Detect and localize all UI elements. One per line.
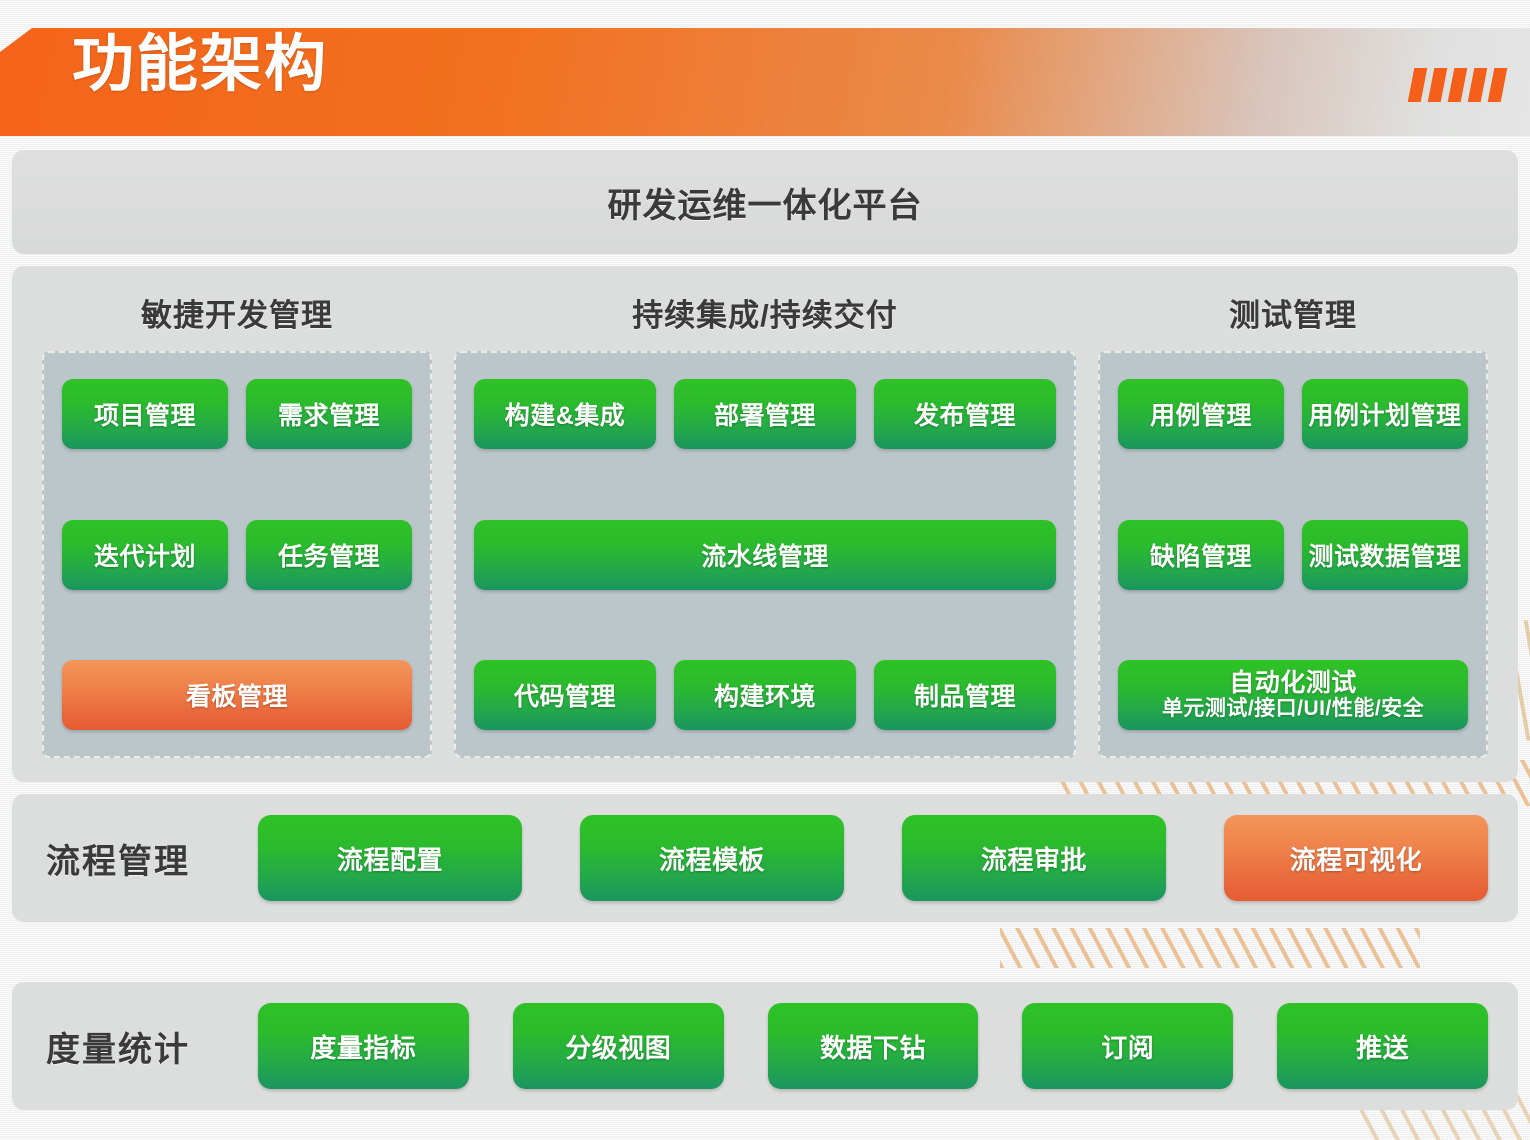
tile-row: 流水线管理 [474,520,1056,590]
tile-requirement-management[interactable]: 需求管理 [246,379,412,449]
capability-columns: 敏捷开发管理 项目管理 需求管理 迭代计划 任务管理 看板管理 持续集成/持续交… [42,284,1488,758]
tile-iteration-plan[interactable]: 迭代计划 [62,520,228,590]
tile-automated-testing[interactable]: 自动化测试 单元测试/接口/UI/性能/安全 [1118,660,1468,730]
tile-row: 代码管理 构建环境 制品管理 [474,660,1056,730]
tile-pipeline-management[interactable]: 流水线管理 [474,520,1056,590]
process-tile-list: 流程配置 流程模板 流程审批 流程可视化 [258,815,1488,901]
tile-row: 项目管理 需求管理 [62,379,412,449]
measurement-tile-list: 度量指标 分级视图 数据下钻 订阅 推送 [258,1003,1488,1089]
tile-data-drilldown[interactable]: 数据下钻 [768,1003,979,1089]
tile-kanban-management[interactable]: 看板管理 [62,660,412,730]
decor-bar-icon [1468,68,1488,102]
platform-title: 研发运维一体化平台 [608,178,923,227]
page-title: 功能架构 [72,34,328,96]
capability-matrix-panel: 敏捷开发管理 项目管理 需求管理 迭代计划 任务管理 看板管理 持续集成/持续交… [12,266,1518,782]
column-tile-group: 构建&集成 部署管理 发布管理 流水线管理 代码管理 构建环境 制品管理 [454,351,1076,758]
tile-row: 用例管理 用例计划管理 [1118,379,1468,449]
tile-tiered-view[interactable]: 分级视图 [513,1003,724,1089]
tile-case-plan-management[interactable]: 用例计划管理 [1302,379,1468,449]
tile-build-environment[interactable]: 构建环境 [674,660,856,730]
tile-metrics-indicator[interactable]: 度量指标 [258,1003,469,1089]
column-agile-development: 敏捷开发管理 项目管理 需求管理 迭代计划 任务管理 看板管理 [42,284,432,758]
measurement-statistics-label: 度量统计 [46,1022,258,1071]
tile-row: 自动化测试 单元测试/接口/UI/性能/安全 [1118,660,1468,730]
tile-code-management[interactable]: 代码管理 [474,660,656,730]
tile-task-management[interactable]: 任务管理 [246,520,412,590]
column-heading: 持续集成/持续交付 [454,284,1076,351]
tile-deploy-management[interactable]: 部署管理 [674,379,856,449]
platform-title-bar: 研发运维一体化平台 [12,150,1518,254]
tile-release-management[interactable]: 发布管理 [874,379,1056,449]
tile-case-management[interactable]: 用例管理 [1118,379,1284,449]
tile-build-integration[interactable]: 构建&集成 [474,379,656,449]
decorative-stripes [1000,928,1420,968]
header-decor-bars [1411,68,1504,102]
tile-process-approval[interactable]: 流程审批 [902,815,1166,901]
tile-row: 迭代计划 任务管理 [62,520,412,590]
tile-row: 缺陷管理 测试数据管理 [1118,520,1468,590]
tile-automated-testing-label: 自动化测试 [1229,670,1357,697]
tile-process-template[interactable]: 流程模板 [580,815,844,901]
tile-process-config[interactable]: 流程配置 [258,815,522,901]
measurement-statistics-row: 度量统计 度量指标 分级视图 数据下钻 订阅 推送 [12,982,1518,1110]
tile-push[interactable]: 推送 [1277,1003,1488,1089]
tile-artifact-management[interactable]: 制品管理 [874,660,1056,730]
column-tile-group: 用例管理 用例计划管理 缺陷管理 测试数据管理 自动化测试 单元测试/接口/UI… [1098,351,1488,758]
decor-bar-icon [1428,68,1448,102]
process-management-row: 流程管理 流程配置 流程模板 流程审批 流程可视化 [12,794,1518,922]
column-heading: 测试管理 [1098,284,1488,351]
column-test-management: 测试管理 用例管理 用例计划管理 缺陷管理 测试数据管理 自动化测试 单元测试/… [1098,284,1488,758]
tile-test-data-management[interactable]: 测试数据管理 [1302,520,1468,590]
tile-row: 构建&集成 部署管理 发布管理 [474,379,1056,449]
tile-row: 看板管理 [62,660,412,730]
decor-bar-icon [1448,68,1468,102]
decor-bar-icon [1408,68,1428,102]
tile-process-visualization[interactable]: 流程可视化 [1224,815,1488,901]
tile-automated-testing-sublabel: 单元测试/接口/UI/性能/安全 [1162,698,1424,721]
tile-defect-management[interactable]: 缺陷管理 [1118,520,1284,590]
process-management-label: 流程管理 [46,834,258,883]
tile-subscription[interactable]: 订阅 [1022,1003,1233,1089]
column-tile-group: 项目管理 需求管理 迭代计划 任务管理 看板管理 [42,351,432,758]
tile-project-management[interactable]: 项目管理 [62,379,228,449]
column-heading: 敏捷开发管理 [42,284,432,351]
column-ci-cd: 持续集成/持续交付 构建&集成 部署管理 发布管理 流水线管理 代码管理 构建环… [454,284,1076,758]
